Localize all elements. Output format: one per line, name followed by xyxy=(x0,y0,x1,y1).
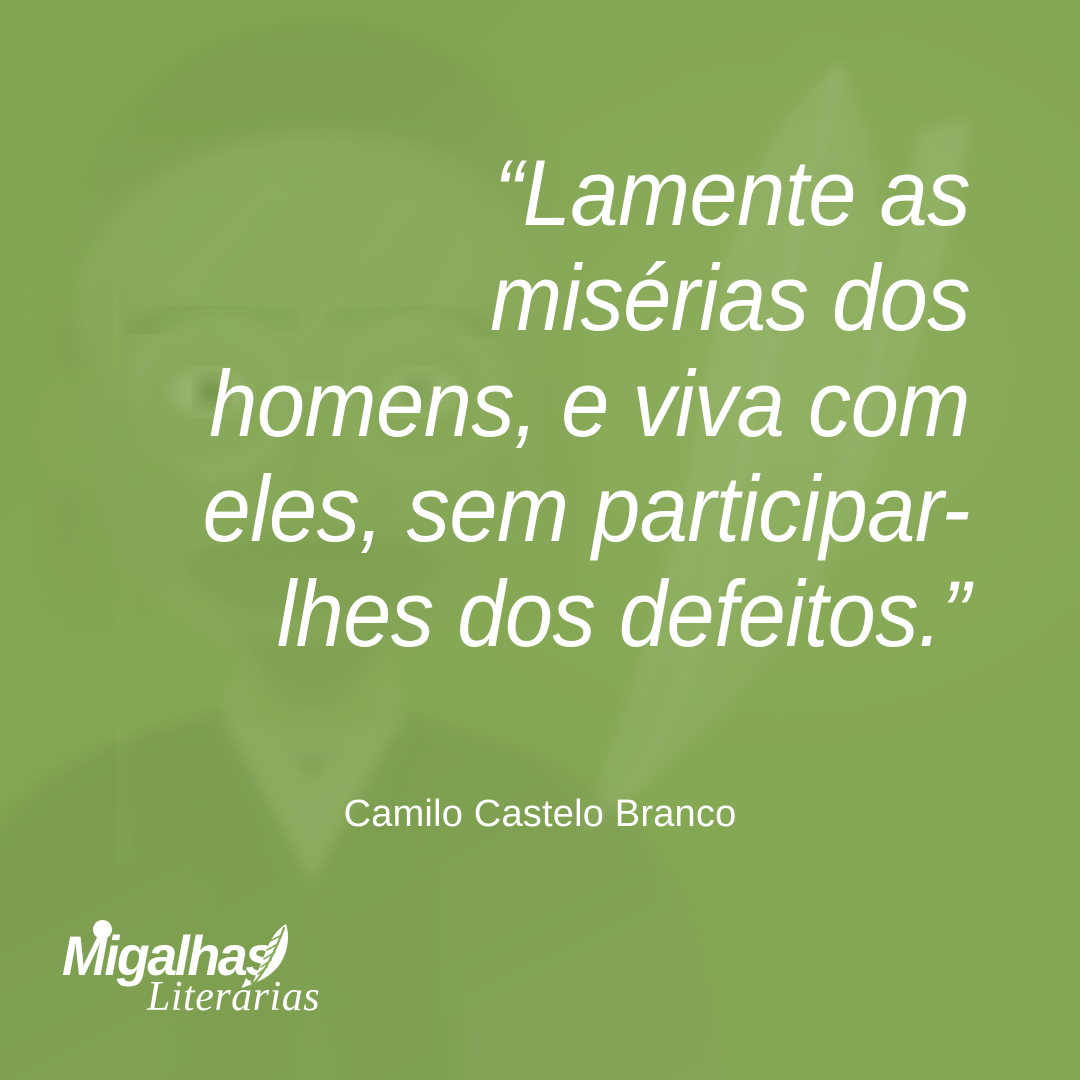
logo-subbrand-text: Literárias xyxy=(147,976,320,1018)
migalhas-literarias-logo[interactable]: Migalhas Literárias xyxy=(62,928,322,1020)
author-name: Camilo Castelo Branco xyxy=(0,793,1080,836)
quote-text: “Lamente as misérias dos homens, e viva … xyxy=(188,140,970,666)
quote-card: “Lamente as misérias dos homens, e viva … xyxy=(0,0,1080,1080)
